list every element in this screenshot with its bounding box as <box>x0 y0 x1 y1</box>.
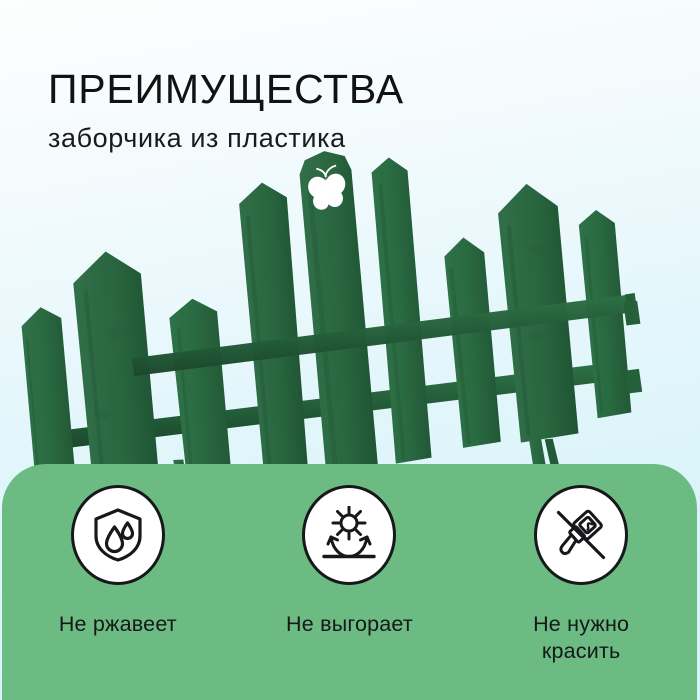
benefit-badge <box>302 485 396 585</box>
benefit-item-no-fade: Не выгорает <box>249 485 449 638</box>
benefits-panel: Не ржавеет <box>2 464 697 700</box>
shield-water-drop-icon <box>90 506 146 564</box>
benefit-label: Не нужно красить <box>533 611 629 665</box>
product-image <box>0 150 700 510</box>
benefit-item-no-paint: Не нужно красить <box>481 485 681 665</box>
benefit-label: Не ржавеет <box>59 611 177 638</box>
benefits-row: Не ржавеет <box>2 464 697 700</box>
benefit-label: Не выгорает <box>286 611 413 638</box>
page-subtitle: заборчика из пластика <box>48 124 648 154</box>
fence-illustration <box>0 150 700 510</box>
sun-reflect-surface-icon <box>319 506 379 564</box>
benefit-badge <box>71 485 165 585</box>
no-paint-brush-icon <box>552 506 610 564</box>
page-title: ПРЕИМУЩЕСТВА <box>48 68 648 111</box>
benefit-item-no-rust: Не ржавеет <box>18 485 218 638</box>
heading-block: ПРЕИМУЩЕСТВА заборчика из пластика <box>48 68 648 153</box>
benefit-badge <box>534 485 628 585</box>
promo-poster: ПРЕИМУЩЕСТВА заборчика из пластика <box>0 0 700 700</box>
